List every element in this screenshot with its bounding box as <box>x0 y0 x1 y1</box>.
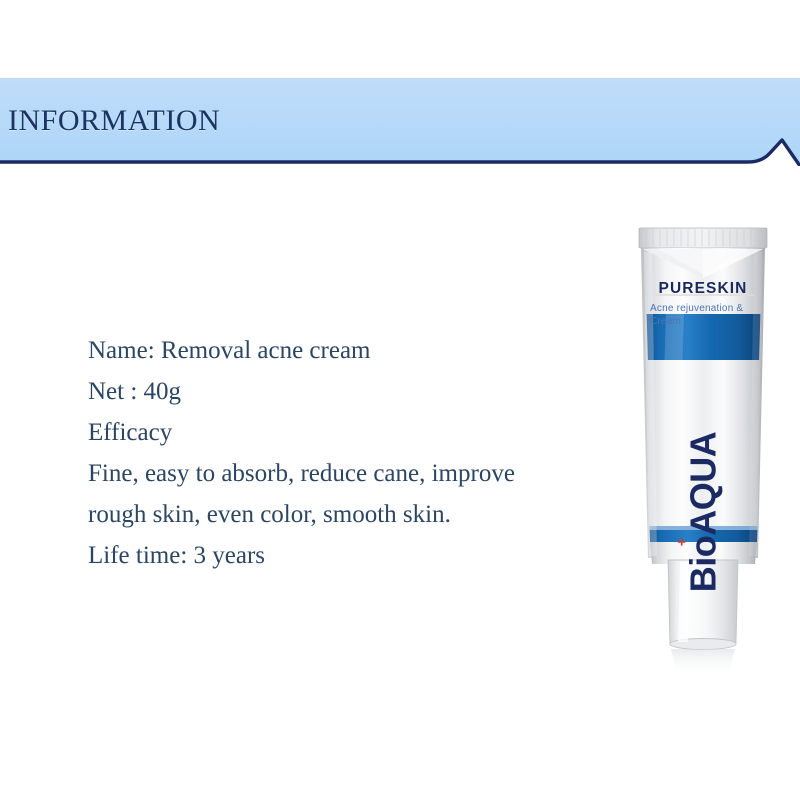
tube-reflection <box>671 649 735 678</box>
tube-illustration <box>608 212 798 682</box>
info-line-efficacy-detail: Fine, easy to absorb, reduce cane, impro… <box>88 453 558 535</box>
tube-cap-highlight <box>678 562 690 642</box>
page-title: INFORMATION <box>8 106 220 136</box>
info-line-net: Net : 40g <box>88 371 558 412</box>
product-image-tube: PURESKIN Acne rejuvenation & Cream + Bio… <box>608 212 798 682</box>
tube-lower-band <box>650 530 758 542</box>
info-line-life-time: Life time: 3 years <box>88 535 558 576</box>
information-page: INFORMATION Name: Removal acne cream Net… <box>0 0 800 800</box>
section-header-banner: INFORMATION <box>0 78 800 166</box>
tube-lower-band-edge <box>650 526 758 530</box>
info-line-name: Name: Removal acne cream <box>88 330 558 371</box>
tube-band-highlight <box>665 314 685 360</box>
product-info-block: Name: Removal acne cream Net : 40g Effic… <box>88 330 558 576</box>
tube-blue-band <box>647 314 761 360</box>
info-line-efficacy: Efficacy <box>88 412 558 453</box>
tube-crimp-seal <box>639 228 767 248</box>
